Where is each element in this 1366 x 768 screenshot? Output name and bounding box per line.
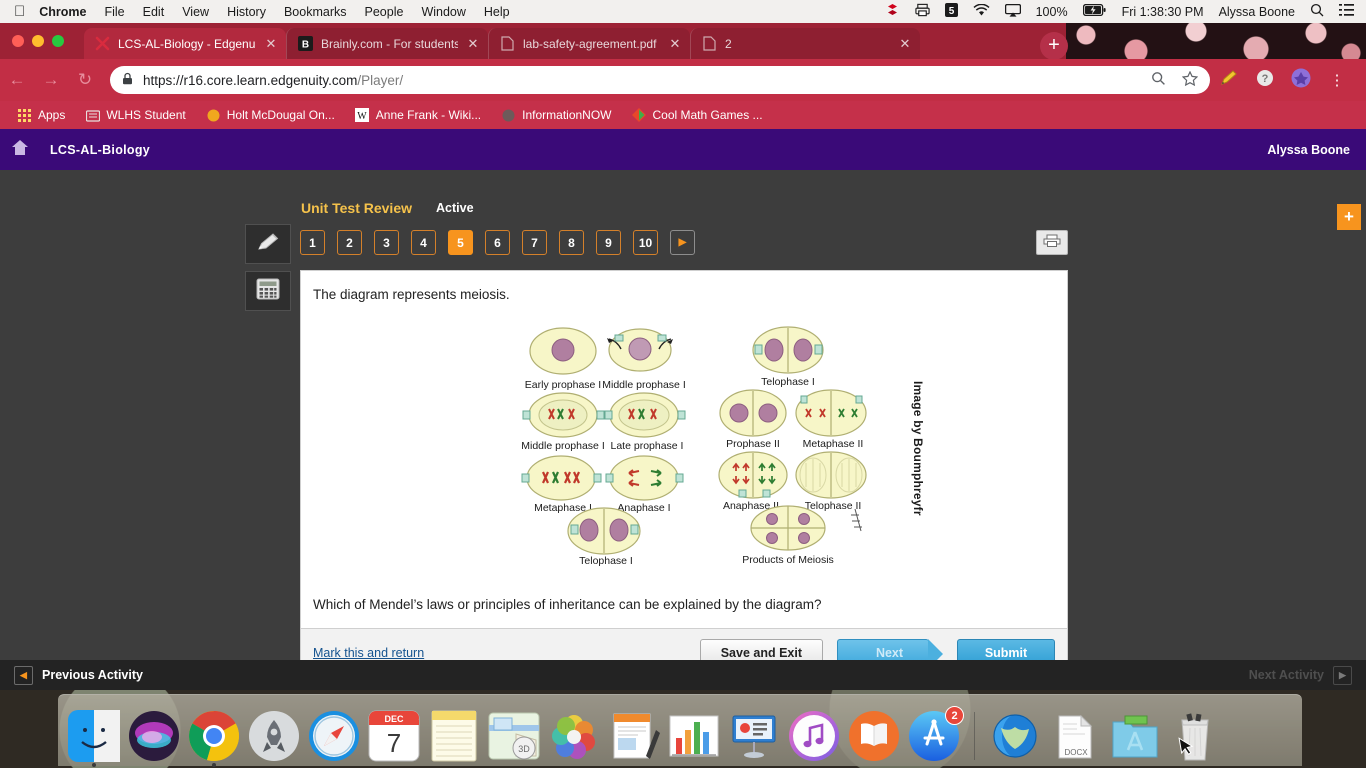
svg-text:Late prophase I: Late prophase I — [611, 440, 684, 452]
lock-icon — [122, 72, 133, 88]
dock-item-calendar[interactable]: DEC7 — [368, 710, 420, 762]
status-badge: Active — [436, 201, 474, 215]
edgenuity-page: LCS-AL-Biology Alyssa Boone Unit Test Un… — [0, 129, 1366, 660]
question-prompt: The diagram represents meiosis. — [301, 271, 1067, 302]
window-controls — [12, 35, 64, 47]
dock-item-siri[interactable] — [128, 710, 180, 762]
dock-item-notes[interactable] — [428, 710, 480, 762]
dock-item-app-store[interactable]: 2 — [908, 710, 960, 762]
wikipedia-w-icon: W — [355, 108, 370, 123]
svg-text:Telophase II: Telophase II — [805, 500, 862, 512]
macos-dock: DEC7 3D 2 — [58, 694, 1302, 766]
bookmark-cool-math-games[interactable]: Cool Math Games ... — [625, 106, 770, 125]
svg-text:B: B — [301, 39, 308, 50]
page-title: Unit Test — [301, 170, 381, 174]
folder-icon — [85, 108, 100, 123]
battery-percent: 100% — [1036, 5, 1068, 19]
forward-button[interactable]: → — [34, 70, 68, 90]
printer-icon — [1043, 233, 1061, 253]
figure-credit: Image by Boumphreyfr — [911, 381, 925, 516]
coolmath-icon — [632, 108, 647, 123]
bookmark-label: Holt McDougal On... — [227, 108, 335, 122]
bookmark-label: Anne Frank - Wiki... — [376, 108, 481, 122]
submit-button[interactable]: Submit — [957, 639, 1055, 661]
dock-item-photos[interactable] — [548, 710, 600, 762]
activity-bar: ◀ Previous Activity Next Activity ▶ — [0, 660, 1366, 690]
close-tab-icon[interactable]: ✕ — [898, 36, 912, 52]
screen:  Chrome File Edit View History Bookmark… — [0, 0, 1366, 768]
dock-item-keynote[interactable] — [728, 710, 780, 762]
maximize-window-button[interactable] — [52, 35, 64, 47]
dock-item-docx-document[interactable]: DOCX — [1049, 710, 1101, 762]
menu-item-view[interactable]: View — [182, 5, 209, 19]
bookmark-label: Cool Math Games ... — [653, 108, 763, 122]
svg-text:Metaphase II: Metaphase II — [803, 438, 864, 450]
previous-activity-label[interactable]: Previous Activity — [42, 668, 143, 682]
star-icon[interactable] — [1182, 71, 1198, 89]
bookmark-informationnow[interactable]: InformationNOW — [494, 106, 618, 125]
svg-text:5: 5 — [948, 6, 954, 17]
browser-tab-2[interactable]: 2 ✕ — [690, 28, 920, 59]
gray-circle-icon — [501, 108, 516, 123]
svg-text:7: 7 — [387, 728, 401, 758]
edgenuity-content: Unit Test Unit Test Review Active + — [0, 170, 1366, 660]
macos-menu-bar:  Chrome File Edit View History Bookmark… — [0, 0, 1366, 23]
dock-item-pages[interactable] — [608, 710, 660, 762]
desktop-wallpaper-peek — [1066, 23, 1366, 59]
menu-clock[interactable]: Fri 1:38:30 PM — [1122, 5, 1204, 19]
running-indicator — [92, 763, 96, 767]
question-text: Which of Mendel’s laws or principles of … — [313, 597, 822, 612]
help-extension-icon[interactable]: ? — [1254, 69, 1276, 91]
browser-toolbar: ← → ↻ https://r16.core.learn.edgenuity.c… — [0, 59, 1366, 101]
dock-item-internet-shortcut[interactable] — [989, 710, 1041, 762]
question-button-9[interactable]: 9 — [596, 230, 621, 255]
close-window-button[interactable] — [12, 35, 24, 47]
question-button-10[interactable]: 10 — [633, 230, 658, 255]
bookmark-label: InformationNOW — [522, 108, 611, 122]
bookmark-label: WLHS Student — [106, 108, 185, 122]
svg-text:Middle prophase I: Middle prophase I — [521, 440, 604, 452]
menu-item-edit[interactable]: Edit — [143, 5, 165, 19]
address-bar[interactable]: https://r16.core.learn.edgenuity.com/Pla… — [110, 66, 1210, 94]
bookmark-wlhs-student[interactable]: WLHS Student — [78, 106, 192, 125]
menu-item-window[interactable]: Window — [421, 5, 465, 19]
svg-text:Early prophase I: Early prophase I — [525, 379, 601, 391]
browser-tab-brainly[interactable]: B Brainly.com - For students. By ✕ — [286, 28, 488, 59]
dock-item-finder[interactable] — [68, 710, 120, 762]
dock-item-maps[interactable]: 3D — [488, 710, 540, 762]
tab-title: LCS-AL-Biology - Edgenuity.cc — [118, 37, 256, 51]
close-tab-icon[interactable]: ✕ — [466, 36, 480, 52]
browser-tab-edgenuity[interactable]: LCS-AL-Biology - Edgenuity.cc ✕ — [84, 28, 286, 59]
home-icon[interactable] — [0, 139, 40, 161]
next-activity-label: Next Activity — [1249, 668, 1324, 682]
lesson-subtitle: Unit Test Review — [301, 200, 412, 216]
apps-grid-icon — [17, 108, 32, 123]
question-button-7[interactable]: 7 — [522, 230, 547, 255]
question-button-4[interactable]: 4 — [411, 230, 436, 255]
close-tab-icon[interactable]: ✕ — [668, 36, 682, 52]
menu-item-history[interactable]: History — [227, 5, 266, 19]
printer-icon[interactable] — [915, 3, 930, 20]
edgenuity-x-icon — [94, 36, 110, 52]
calculator-icon — [256, 278, 280, 305]
svg-text:DEC: DEC — [384, 714, 404, 724]
new-tab-button[interactable]: + — [1040, 32, 1068, 59]
course-name: LCS-AL-Biology — [50, 143, 150, 157]
next-button[interactable]: Next — [837, 639, 929, 661]
highlighter-tool[interactable] — [245, 224, 291, 264]
dock-item-ibooks[interactable] — [848, 710, 900, 762]
search-icon[interactable] — [1151, 71, 1166, 89]
question-navigation: 1 2 3 4 5 6 7 8 9 10 ▶ — [300, 230, 695, 255]
address-bar-url: https://r16.core.learn.edgenuity.com — [143, 73, 357, 88]
add-panel-button[interactable]: + — [1337, 204, 1361, 230]
tab-list: LCS-AL-Biology - Edgenuity.cc ✕ B Brainl… — [84, 28, 920, 59]
dock-item-safari[interactable] — [308, 710, 360, 762]
document-icon — [499, 36, 515, 52]
question-footer: Mark this and return Save and Exit Next … — [300, 629, 1068, 660]
save-and-exit-button[interactable]: Save and Exit — [700, 639, 823, 661]
app-store-badge: 2 — [945, 706, 964, 725]
menu-item-people[interactable]: People — [365, 5, 404, 19]
meiosis-diagram-svg: Early prophase I Middle prophase I Telop… — [511, 323, 931, 573]
edgenuity-header: LCS-AL-Biology Alyssa Boone — [0, 129, 1366, 170]
battery-charging-icon[interactable] — [1083, 4, 1107, 19]
chrome-menu-icon[interactable]: ⋮ — [1326, 71, 1348, 89]
menu-item-chrome[interactable]: Chrome — [39, 5, 86, 19]
five-icon[interactable]: 5 — [945, 3, 958, 20]
question-button-6[interactable]: 6 — [485, 230, 510, 255]
bookmark-holt-mcdougal[interactable]: Holt McDougal On... — [199, 106, 342, 125]
airplay-icon[interactable] — [1005, 4, 1021, 20]
bookmarks-bar: Apps WLHS Student Holt McDougal On... W … — [0, 101, 1366, 129]
previous-activity-icon[interactable]: ◀ — [14, 666, 33, 685]
question-button-1[interactable]: 1 — [300, 230, 325, 255]
notification-center-icon[interactable] — [1339, 4, 1354, 19]
minimize-window-button[interactable] — [32, 35, 44, 47]
svg-text:Telophase I: Telophase I — [761, 376, 815, 388]
svg-text:W: W — [358, 111, 368, 122]
svg-text:Prophase II: Prophase II — [726, 438, 780, 450]
profile-avatar-icon[interactable] — [1290, 68, 1312, 92]
dock-item-applications-folder[interactable] — [1109, 710, 1161, 762]
extension-icons: ? ⋮ — [1218, 68, 1348, 92]
svg-text:Middle prophase I: Middle prophase I — [602, 379, 685, 391]
dock-separator — [974, 712, 975, 760]
question-button-8[interactable]: 8 — [559, 230, 584, 255]
menu-item-bookmarks[interactable]: Bookmarks — [284, 5, 347, 19]
menu-item-file[interactable]: File — [104, 5, 124, 19]
question-card: The diagram represents meiosis. — [300, 270, 1068, 629]
next-activity-group: Next Activity ▶ — [1249, 666, 1366, 685]
close-tab-icon[interactable]: ✕ — [264, 36, 278, 52]
tab-title: 2 — [725, 37, 890, 51]
menu-item-help[interactable]: Help — [484, 5, 510, 19]
edgenuity-user-name[interactable]: Alyssa Boone — [1267, 143, 1350, 157]
tab-title: lab-safety-agreement.pdf — [523, 37, 660, 51]
wifi-icon[interactable] — [973, 4, 990, 20]
meiosis-diagram: Early prophase I Middle prophase I Telop… — [511, 323, 931, 573]
svg-text:Products of Meiosis: Products of Meiosis — [742, 554, 834, 566]
svg-text:Telophase I: Telophase I — [579, 555, 633, 567]
next-activity-icon: ▶ — [1333, 666, 1352, 685]
bookmark-anne-frank-wikipedia[interactable]: W Anne Frank - Wiki... — [348, 106, 488, 125]
pencil-extension-icon[interactable] — [1218, 69, 1240, 91]
print-button[interactable] — [1036, 230, 1068, 255]
svg-text:3D: 3D — [518, 744, 530, 754]
orange-circle-icon — [206, 108, 221, 123]
svg-text:?: ? — [1262, 73, 1269, 85]
question-button-5[interactable]: 5 — [448, 230, 473, 255]
dock-item-numbers[interactable] — [668, 710, 720, 762]
bookmark-apps[interactable]: Apps — [10, 106, 72, 125]
address-bar-path: /Player/ — [357, 73, 403, 88]
document-icon — [701, 36, 717, 52]
svg-text:DOCX: DOCX — [1064, 748, 1088, 757]
question-button-2[interactable]: 2 — [337, 230, 362, 255]
dock-item-google-chrome[interactable] — [188, 710, 240, 762]
pencil-icon — [255, 231, 281, 258]
brainly-b-icon: B — [297, 36, 313, 52]
reload-button[interactable]: ↻ — [68, 70, 102, 90]
tab-title: Brainly.com - For students. By — [321, 37, 458, 51]
apple-icon[interactable]:  — [14, 4, 25, 19]
back-button[interactable]: ← — [0, 70, 34, 90]
browser-tab-strip: LCS-AL-Biology - Edgenuity.cc ✕ B Brainl… — [0, 23, 1366, 59]
spotlight-search-icon[interactable] — [1310, 3, 1324, 20]
menu-user-name[interactable]: Alyssa Boone — [1219, 5, 1295, 19]
running-indicator — [212, 763, 216, 767]
browser-tab-lab-safety-pdf[interactable]: lab-safety-agreement.pdf ✕ — [488, 28, 690, 59]
question-button-3[interactable]: 3 — [374, 230, 399, 255]
dock-item-launchpad[interactable] — [248, 710, 300, 762]
dock-item-itunes[interactable] — [788, 710, 840, 762]
next-questions-arrow[interactable]: ▶ — [670, 230, 695, 255]
mark-this-and-return-link[interactable]: Mark this and return — [313, 646, 424, 660]
bookmark-label: Apps — [38, 108, 65, 122]
tool-palette — [245, 224, 291, 311]
dropbox-icon[interactable] — [885, 3, 900, 20]
calculator-tool[interactable] — [245, 271, 291, 311]
